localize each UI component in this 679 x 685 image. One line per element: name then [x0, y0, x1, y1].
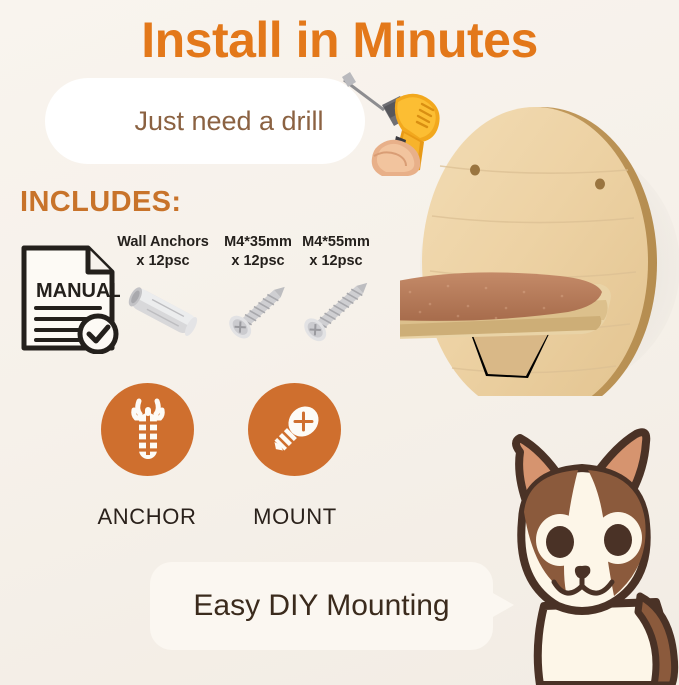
part-name: Wall Anchors	[108, 233, 218, 252]
feature-badge-anchor	[101, 383, 194, 476]
feature-label-mount: MOUNT	[215, 504, 375, 530]
product-infographic: Install in Minutes Just need a drill	[0, 0, 679, 685]
manual-document-icon: MANUAL	[18, 242, 120, 354]
page-title: Install in Minutes	[0, 14, 679, 67]
callout-text: Easy DIY Mounting	[150, 562, 493, 650]
part-wall-anchors: Wall Anchors x 12psc	[108, 233, 218, 352]
cartoon-cat-face	[486, 416, 679, 685]
mounting-hole	[595, 179, 605, 190]
feature-label-anchor: ANCHOR	[67, 504, 227, 530]
screw-icon	[288, 275, 384, 347]
drill-note-text: Just need a drill	[45, 78, 375, 164]
part-quantity: x 12psc	[108, 252, 218, 271]
feature-badge-mount	[248, 383, 341, 476]
part-screw-55mm: M4*55mm x 12psc	[288, 233, 384, 352]
anchor-plug-icon	[120, 395, 176, 465]
screw-icon	[262, 397, 328, 463]
part-quantity: x 12psc	[288, 252, 384, 271]
power-drill-icon	[338, 66, 460, 178]
includes-heading: INCLUDES:	[20, 186, 182, 219]
mounting-hole	[470, 165, 480, 176]
part-name: M4*55mm	[288, 233, 384, 252]
wall-anchor-icon	[108, 275, 218, 347]
